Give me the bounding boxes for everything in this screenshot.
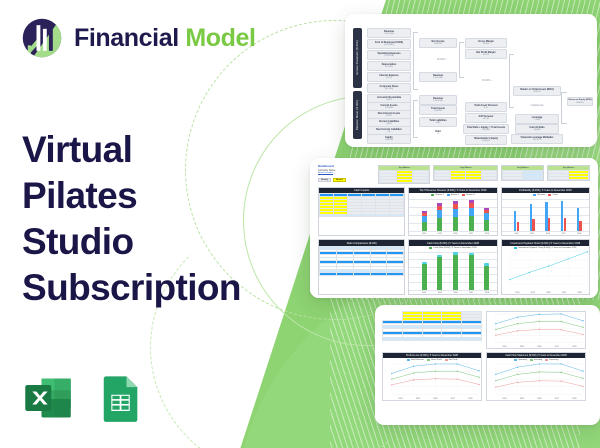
profitability-chart-panel: Profitability ($ 000) | 5 Years to Decem… <box>501 187 590 236</box>
flow-node: Net Income 304,812 <box>419 38 457 48</box>
legend-item: Stream 2 <box>447 194 459 196</box>
axis-tick: 2026 <box>453 292 457 294</box>
grouped-bar-chart: 20242025202620272028 <box>502 197 589 235</box>
cell <box>462 338 482 341</box>
cell <box>320 214 334 217</box>
axis-tick: 2025 <box>531 292 535 294</box>
node-value: (227) <box>368 77 410 80</box>
key-metrics-panel-d: Key Metrics <box>547 165 590 181</box>
bar <box>577 208 582 231</box>
axis-tick: 2024 <box>398 398 402 400</box>
cell <box>396 180 412 183</box>
axis-tick: 2024 <box>502 398 506 400</box>
flow-node: Corporate Taxes (82,133) <box>367 83 411 93</box>
cell <box>569 177 589 180</box>
financial-statements-preview-card[interactable]: 20242025202620272028 Profit & Loss ($ 00… <box>375 305 600 425</box>
page-title-line-1: Virtual <box>22 127 272 173</box>
google-sheets-icon[interactable] <box>94 372 146 424</box>
brand-word-financial: Financial <box>74 24 179 52</box>
bar <box>484 263 489 290</box>
cell <box>402 338 422 341</box>
node-value: 1.006 <box>516 119 558 122</box>
axis-tick: 2028 <box>485 233 489 235</box>
axis-tick: 2025 <box>438 292 442 294</box>
axis-tick: 2024 <box>422 292 426 294</box>
bar <box>453 201 458 231</box>
axis-tick: 2024 <box>422 233 426 235</box>
bar <box>530 204 535 231</box>
income-statement-band: Income Statement ($ 000) <box>353 28 362 88</box>
dupont-flowchart: Income Statement ($ 000) Balance Sheet (… <box>345 14 597 147</box>
promo-banner: Financial Model Virtual Pilates Studio S… <box>0 0 600 448</box>
bar <box>514 211 519 231</box>
investment-payback-panel: Investment Payback Chart ($ 000) | 5 Yea… <box>501 239 590 294</box>
cash-flow-statement-chart-panel: Cash Flow Statement ($ 000) | 5 Years to… <box>486 352 586 401</box>
flow-operator: 30.06% ÷ <box>429 57 455 62</box>
flow-node: Return on Equity (ROE) 204.6% <box>567 97 593 106</box>
axis-tick: 2025 <box>416 398 420 400</box>
ratio-comparisons-panel: Ratio Comparisons ($ 000) <box>318 239 405 294</box>
flow-node: A/R Turnover 112.91 <box>465 113 507 123</box>
flow-node: Total Assets 149,852 <box>419 105 457 115</box>
flow-connector <box>509 54 514 108</box>
axis-tick: 2028 <box>572 398 576 400</box>
axis-tick: 2027 <box>562 292 566 294</box>
bar <box>469 200 474 231</box>
line-chart-svg <box>487 362 585 399</box>
node-value: 149,852 <box>464 129 508 132</box>
page-title-line-3: Studio <box>22 219 272 265</box>
cell <box>442 338 462 341</box>
axis-tick: 2026 <box>537 346 541 348</box>
legend-item: Total Revenue <box>407 359 424 361</box>
key-metrics-panel-c: Key Metrics <box>501 165 544 181</box>
monthly-button[interactable]: Monthly <box>318 178 331 182</box>
flow-connector <box>561 92 567 124</box>
legend-item: Net Profit <box>445 359 458 361</box>
axis-tick: 2025 <box>438 233 442 235</box>
flow-node: Revenue 1,014,000 <box>419 72 457 82</box>
flow-node: Revenue 1,014,000 <box>367 28 411 38</box>
balance-sheet-chart-panel: 20242025202620272028 <box>486 311 586 349</box>
axis-tick: 2025 <box>520 346 524 348</box>
mini-table <box>379 170 429 183</box>
bar <box>484 208 489 232</box>
axis-tick: 2027 <box>469 233 473 235</box>
key-metrics-panel-b: Key Metrics <box>433 165 498 181</box>
legend-item: Financing <box>545 359 558 361</box>
mini-table <box>434 170 497 180</box>
cell <box>481 177 497 180</box>
flow-node: Revenue 1,014,000 <box>419 95 457 105</box>
flow-node: Gross Margin 59.4% <box>465 38 507 48</box>
circular-bar-chart-logo-icon <box>20 16 64 60</box>
cell <box>380 180 396 183</box>
legend-item: Stream 3 <box>462 194 474 196</box>
cell <box>523 177 543 180</box>
legend-item: Costs <box>548 194 557 196</box>
mini-table <box>502 170 543 180</box>
legend-item: Stream 1 <box>431 194 443 196</box>
cash-flow-statement-line-chart: 20242025202620272028 <box>487 362 585 400</box>
node-value: 846 <box>420 122 456 125</box>
cell <box>320 272 337 275</box>
node-value: 30.1% <box>466 54 506 57</box>
flow-node: Equity 149,006 <box>367 134 411 144</box>
profit-loss-line-chart: 20242025202620272028 <box>383 362 481 400</box>
legend-item: Investing <box>530 359 542 361</box>
top-revenue-streams-chart-panel: Top 5 Revenue Streams ($ 000) | 5 Years … <box>408 187 497 236</box>
node-value: 6.77 <box>466 107 506 110</box>
flow-connector <box>413 32 418 90</box>
node-value: (411,880) <box>368 44 410 47</box>
flow-node: Operating Expenses (213,768) <box>367 50 411 60</box>
mini-table <box>548 170 589 180</box>
node-value: 149,006 <box>466 140 506 143</box>
axis-tick: 2028 <box>485 292 489 294</box>
page-title-line-4: Subscription <box>22 265 272 311</box>
legend-item: Investment Payback Chart ($ 000) | 5 Yea… <box>514 247 576 249</box>
return-to-index-link[interactable]: Return to Index <box>318 172 375 174</box>
node-value: 100.57% <box>512 139 562 142</box>
key-metrics-panel-a: Key Metrics <box>378 165 430 184</box>
axis-tick: 2024 <box>514 233 518 235</box>
financial-dashboard-preview-card[interactable]: Dashboard Company Name Return to Index M… <box>310 158 598 298</box>
statements-table-block <box>382 311 482 349</box>
cell <box>435 177 451 180</box>
axis-tick: 2028 <box>577 292 581 294</box>
page-title: Virtual Pilates Studio Subscription <box>22 127 272 311</box>
axis-tick: 2028 <box>572 346 576 348</box>
axis-tick: 2027 <box>555 346 559 348</box>
legend-item: Gross Profit <box>427 359 442 361</box>
axis-tick: 2028 <box>577 233 581 235</box>
node-value: 1,014,000 <box>368 33 410 36</box>
brand-wordmark: Financial Model <box>74 24 256 53</box>
cell <box>334 214 348 217</box>
bar <box>437 203 442 231</box>
axis-tick: 2025 <box>520 398 524 400</box>
mini-table <box>319 193 404 217</box>
axis-tick: 2025 <box>530 233 534 235</box>
axis-tick: 2026 <box>546 292 550 294</box>
bar <box>561 201 566 231</box>
legend-item: Operating <box>514 359 527 361</box>
flow-connector <box>459 42 464 78</box>
bar <box>545 202 550 231</box>
annual-button[interactable]: Annual <box>333 178 345 182</box>
node-value: (1,185) <box>368 66 410 69</box>
financial-dashboard: Dashboard Company Name Return to Index M… <box>310 158 598 298</box>
cell <box>390 214 404 217</box>
mini-table <box>382 311 482 341</box>
cell <box>422 338 442 341</box>
line-chart-svg <box>383 362 481 399</box>
node-value: 1,014,000 <box>420 77 456 80</box>
flow-node: Interest Expense (227) <box>367 72 411 82</box>
profit-loss-chart-panel: Profit & Loss ($ 000) | 5 Years to Decem… <box>382 352 482 401</box>
flow-node: Total Asset Turnover 6.77 <box>465 102 507 112</box>
cell <box>383 338 403 341</box>
cash-flow-bar-chart: 20242025202620272028 <box>409 250 496 294</box>
cell <box>362 214 376 217</box>
node-value: 59.4% <box>466 43 506 46</box>
bar <box>422 211 427 232</box>
flow-node: Depreciation (1,185) <box>367 61 411 71</box>
cash-impacts-panel: Cash Impacts <box>318 187 405 236</box>
flow-operator: multiplied by <box>521 103 553 108</box>
balance-sheet-line-chart: 20242025202620272028 <box>487 312 585 348</box>
axis-tick: 2024 <box>502 346 506 348</box>
flow-node: Shareholder's Equity 149,006 <box>465 135 507 145</box>
cell <box>353 272 370 275</box>
line-chart-svg <box>502 250 589 288</box>
node-value: (82,133) <box>368 88 410 91</box>
dashboard-header: Dashboard Company Name Return to Index M… <box>318 165 375 182</box>
flow-node: Cost of Revenue (COGS) (411,880) <box>367 39 411 49</box>
axis-tick: 2026 <box>537 398 541 400</box>
brand-lockup: Financial Model <box>20 16 256 60</box>
cell <box>387 272 404 275</box>
bar <box>469 253 474 290</box>
flow-node: Net Profit Margin 30.1% <box>465 49 507 59</box>
node-value: 168.98 <box>516 129 558 132</box>
flow-node: Total Debt + Equity = Total Assets 149,8… <box>463 124 509 134</box>
node-value: 0 <box>419 133 457 136</box>
axis-tick: 2024 <box>515 292 519 294</box>
flow-node: Current Ratio 168.98 <box>515 124 559 134</box>
node-value: 204.6% <box>568 102 592 105</box>
axis-tick: 2027 <box>469 292 473 294</box>
stacked-bar-chart: 20242025202620272028 <box>409 197 496 235</box>
page-title-line-2: Pilates <box>22 173 272 219</box>
brand-word-model: Model <box>185 24 255 52</box>
node-value: 203.4% <box>514 91 560 94</box>
axis-tick: 2028 <box>468 398 472 400</box>
flow-operator: 30.06% ÷ <box>473 78 501 83</box>
cell <box>549 177 569 180</box>
flow-connector <box>413 100 418 138</box>
cell <box>413 180 429 183</box>
axis-tick: 2027 <box>555 398 559 400</box>
flow-node: Financial Leverage Multiplier 100.57% <box>511 134 563 144</box>
legend-item: Revenue <box>533 194 545 196</box>
dupont-flowchart-preview-card[interactable]: Income Statement ($ 000) Balance Sheet (… <box>345 14 597 147</box>
cell <box>348 214 362 217</box>
cell <box>503 177 523 180</box>
mini-table <box>319 246 404 276</box>
node-value: 1,014,000 <box>420 100 456 103</box>
flow-node: Leverage 1.006 <box>515 114 559 124</box>
financial-statements: 20242025202620272028 Profit & Loss ($ 00… <box>375 305 600 425</box>
bar <box>422 262 427 290</box>
axis-tick: 2027 <box>451 398 455 400</box>
node-value: (213,768) <box>368 55 410 58</box>
flow-node: Debt 0 <box>419 129 457 137</box>
node-value: 112.91 <box>466 118 506 121</box>
axis-tick: 2026 <box>453 233 457 235</box>
payback-line-chart: 20242025202620272028 <box>502 250 589 294</box>
line-chart-svg <box>487 312 585 347</box>
axis-tick: 2026 <box>433 398 437 400</box>
legend-item: Cash Flow ($ 000) | 5 Years to December … <box>429 247 476 249</box>
cash-flow-chart-panel: Cash Flow ($ 000) | 5 Years to December … <box>408 239 497 294</box>
microsoft-excel-icon[interactable] <box>22 372 74 424</box>
node-value: 149,006 <box>368 139 410 142</box>
axis-tick: 2026 <box>546 233 550 235</box>
axis-tick: 2027 <box>561 233 565 235</box>
cell <box>466 177 482 180</box>
balance-sheet-band: Balance Sheet ($ 000) <box>353 91 362 139</box>
flow-node: Total Liabilities 846 <box>419 117 457 127</box>
bar <box>453 252 458 290</box>
cell <box>336 272 353 275</box>
cell <box>376 214 390 217</box>
node-value: 149,852 <box>420 110 456 113</box>
cell <box>450 177 466 180</box>
cell <box>370 272 387 275</box>
file-format-icons <box>22 372 146 424</box>
node-value: 304,812 <box>420 43 456 46</box>
flow-node: Return on Total Assets (ROA) 203.4% <box>513 86 561 96</box>
bar <box>437 255 442 290</box>
